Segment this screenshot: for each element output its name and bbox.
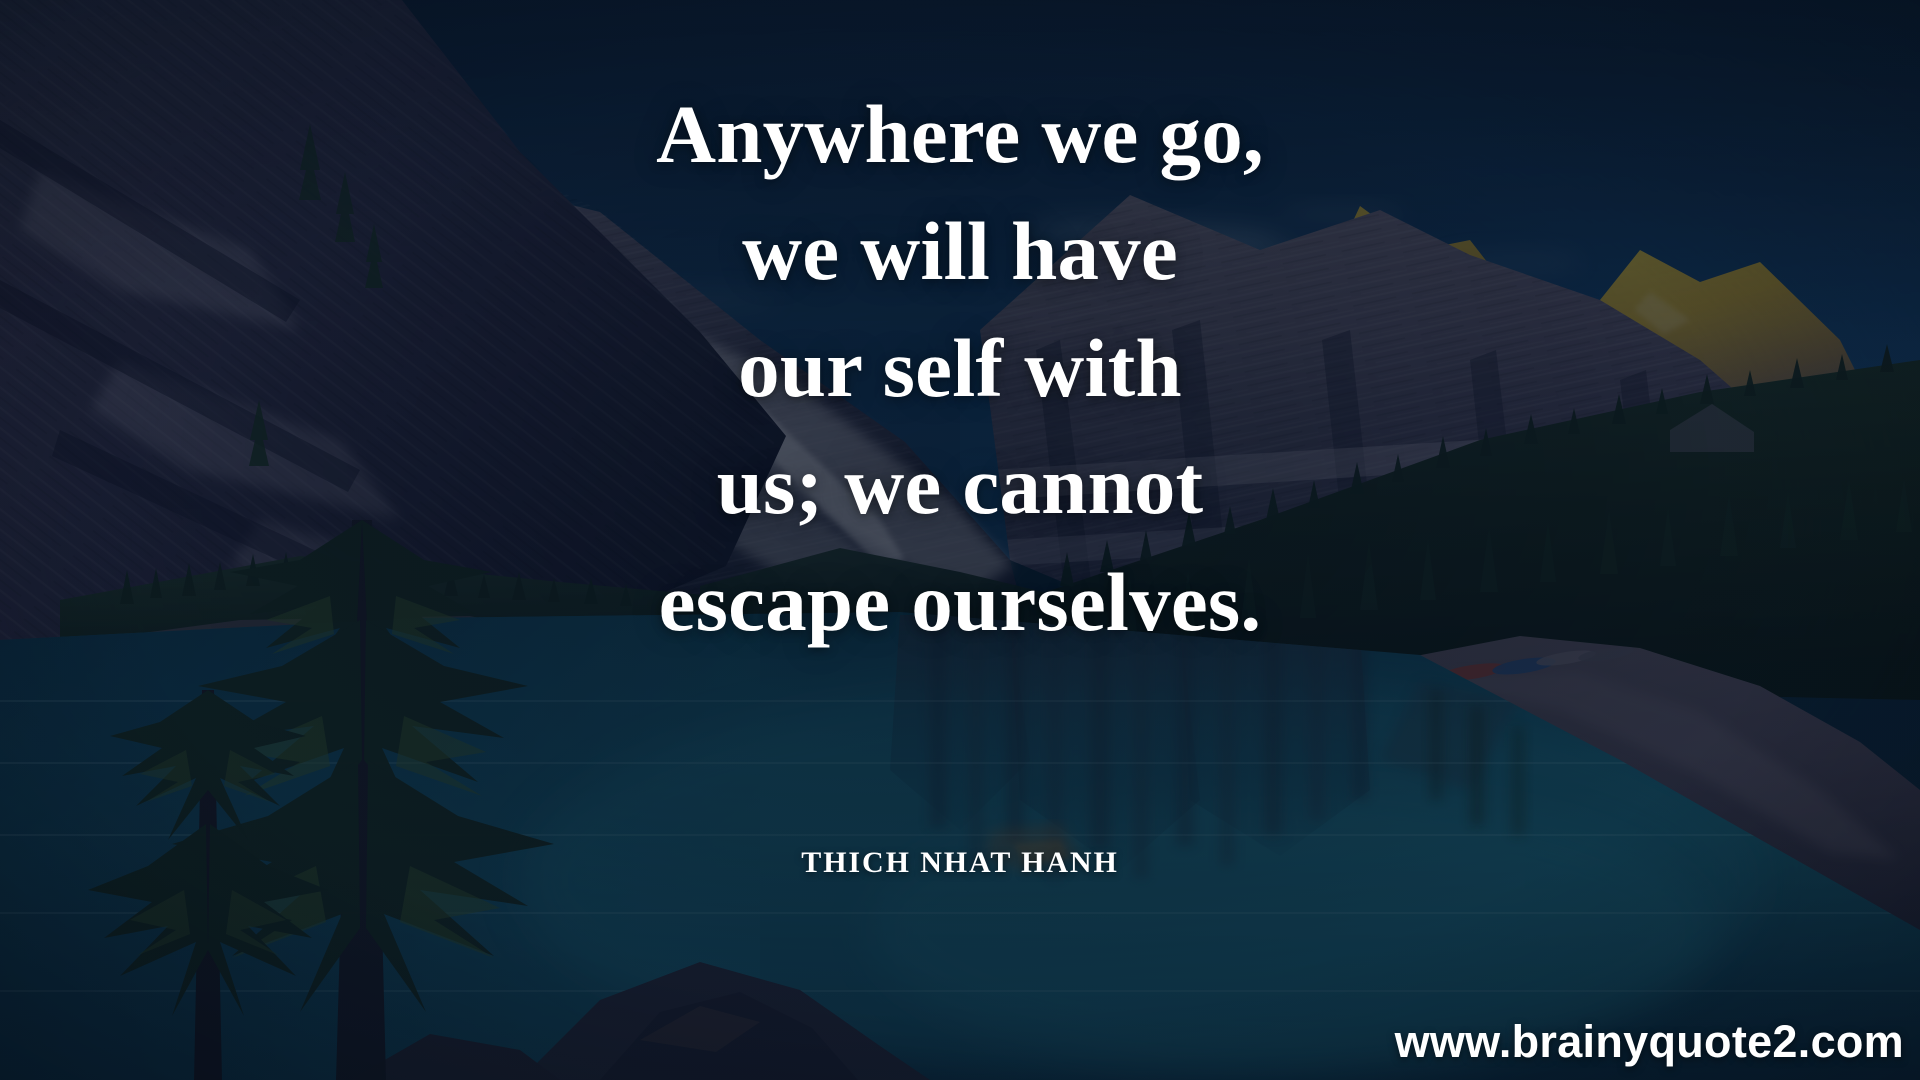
attribution-author-name: THICH NHAT HANH bbox=[801, 845, 1118, 881]
watermark-url: www.brainyquote2.com bbox=[1395, 1016, 1904, 1068]
quote-block: Anywhere we go, we will have our self wi… bbox=[0, 76, 1920, 661]
attribution-block: THICH NHAT HANH bbox=[0, 845, 1920, 881]
quote-text: Anywhere we go, we will have our self wi… bbox=[300, 76, 1620, 661]
quote-image-canvas: Anywhere we go, we will have our self wi… bbox=[0, 0, 1920, 1080]
watermark-block: www.brainyquote2.com bbox=[1395, 1016, 1904, 1068]
